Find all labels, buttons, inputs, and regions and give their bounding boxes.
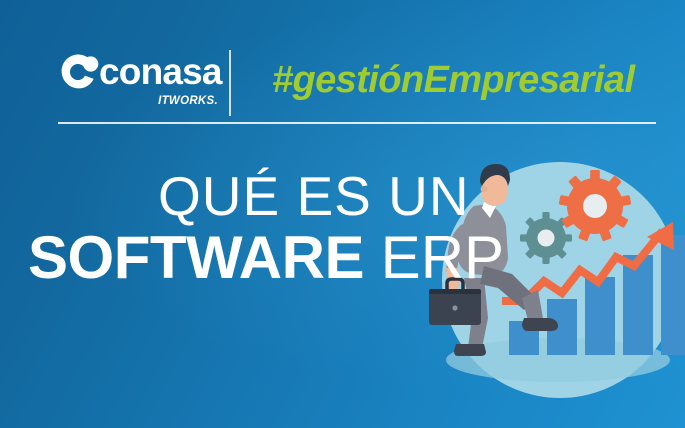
horizontal-divider	[58, 122, 656, 124]
logo-row: conasa	[60, 52, 220, 96]
banner-header: conasa ITWORKS. #gestiónEmpresarial	[0, 0, 685, 132]
headline-line-1: QUÉ ES UN	[28, 168, 448, 225]
headline-line-2: SOFTWARE ERP	[28, 227, 448, 305]
conasa-wordmark: conasa	[99, 52, 222, 92]
back-shoe	[454, 344, 486, 356]
briefcase-lock	[452, 305, 457, 310]
conasa-tagline: ITWORKS.	[158, 95, 218, 107]
conasa-logo[interactable]: conasa ITWORKS.	[60, 52, 220, 114]
ear	[481, 186, 488, 193]
front-shoe	[522, 318, 558, 331]
bar-3	[585, 277, 615, 355]
headline-block: QUÉ ES UN SOFTWARE ERP	[28, 168, 448, 305]
hashtag-gestion-empresarial: #gestiónEmpresarial	[272, 56, 634, 104]
headline-word-software: SOFTWARE	[28, 224, 364, 291]
erp-promo-banner: conasa ITWORKS. #gestiónEmpresarial QUÉ …	[0, 0, 685, 428]
bar-4	[623, 255, 653, 355]
bar-5	[661, 235, 685, 355]
headline-word-erp: ERP	[364, 224, 504, 291]
vertical-divider	[229, 50, 231, 116]
conasa-c-dot-logo-icon	[60, 53, 100, 94]
